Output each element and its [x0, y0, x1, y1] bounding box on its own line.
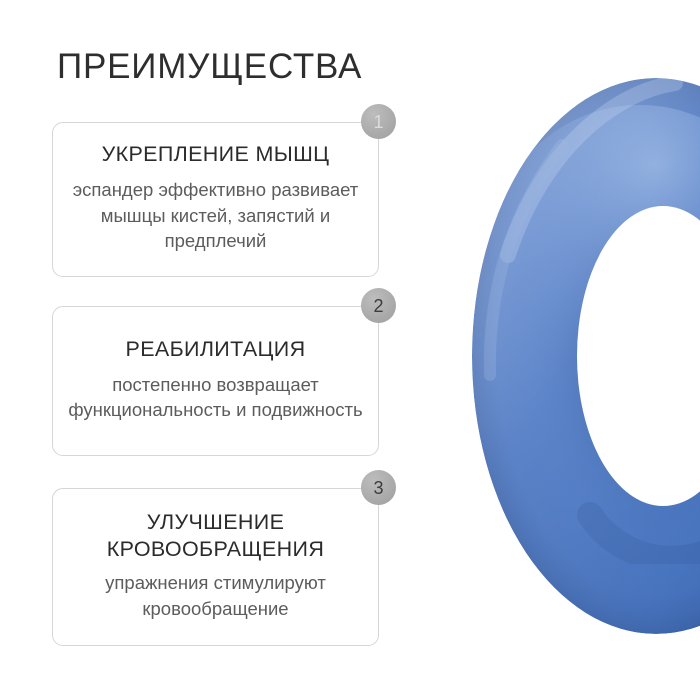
- benefit-card-1: УКРЕПЛЕНИЕ МЫШЦ эспандер эффективно разв…: [52, 122, 379, 277]
- step-badge-1: 1: [361, 104, 396, 139]
- benefit-card-1-heading: УКРЕПЛЕНИЕ МЫШЦ: [102, 141, 330, 168]
- ring-inner-shadow: [590, 505, 700, 559]
- benefit-card-2-body: постепенно возвращает функциональность и…: [67, 372, 364, 423]
- benefit-card-3-body: упражнения стимулируют кровообращение: [67, 570, 364, 621]
- benefit-card-1-body: эспандер эффективно развивает мышцы кист…: [67, 177, 364, 254]
- ring-svg: [470, 75, 700, 637]
- ring-torus-body: [472, 78, 700, 634]
- benefit-card-3-heading: УЛУЧШЕНИЕ КРОВООБРАЩЕНИЯ: [67, 509, 364, 563]
- ring-graphic: [470, 75, 700, 637]
- benefit-card-2: РЕАБИЛИТАЦИЯ постепенно возвращает функц…: [52, 306, 379, 456]
- product-image-blue-ring-expander: [418, 0, 700, 700]
- page-title: ПРЕИМУЩЕСТВА: [57, 47, 362, 87]
- step-badge-2: 2: [361, 288, 396, 323]
- benefit-card-2-heading: РЕАБИЛИТАЦИЯ: [126, 336, 306, 363]
- promo-slide: ПРЕИМУЩЕСТВА УКРЕПЛЕНИЕ МЫШЦ эспандер эф…: [0, 0, 700, 700]
- ring-specular-highlight: [490, 83, 675, 375]
- step-badge-3: 3: [361, 470, 396, 505]
- benefit-card-3: УЛУЧШЕНИЕ КРОВООБРАЩЕНИЯ упражнения стим…: [52, 488, 379, 646]
